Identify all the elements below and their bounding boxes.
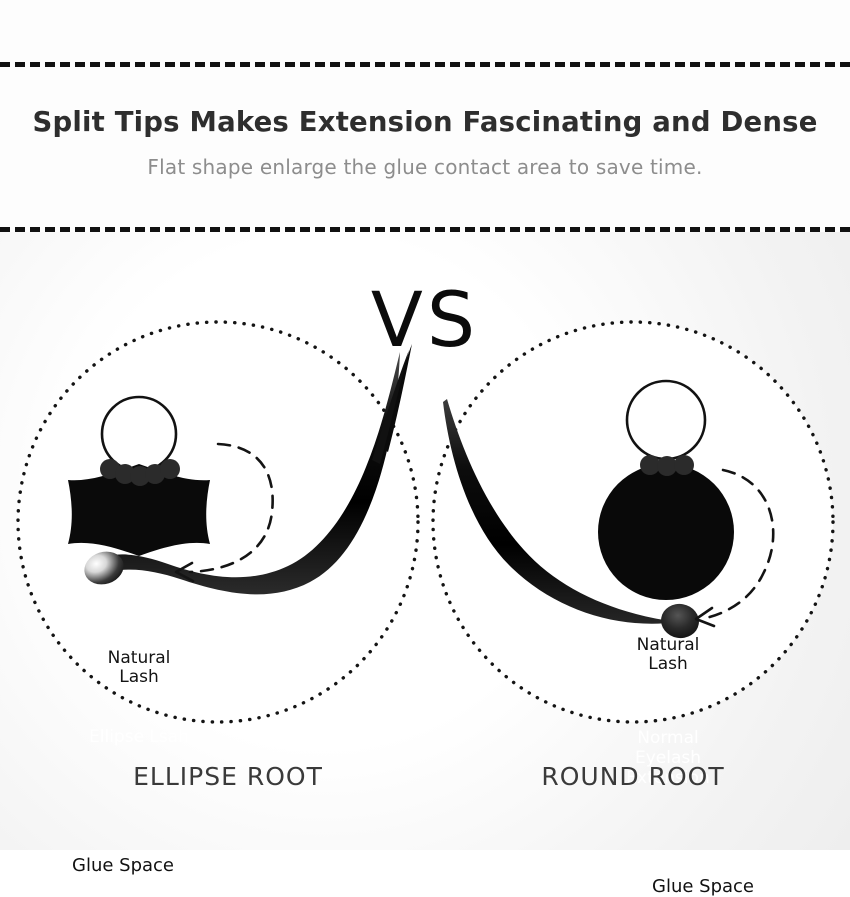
natural-lash-label-right-line1: Natural	[630, 636, 706, 655]
glue-dot-icon	[160, 459, 180, 479]
natural-lash-label-left-line1: Natural	[101, 649, 177, 668]
header-divider-top	[0, 62, 850, 67]
page-subtitle: Flat shape enlarge the glue contact area…	[0, 155, 850, 179]
natural-lash-label-right-line2: Lash	[630, 655, 706, 674]
natural-lash-label-left-line2: Lash	[101, 668, 177, 687]
glue-dot-row-right	[640, 455, 694, 476]
infographic-root: Split Tips Makes Extension Fascinating a…	[0, 0, 850, 850]
natural-lash-circle-right	[627, 381, 705, 459]
caption-round-root: ROUND ROOT	[473, 762, 793, 791]
natural-lash-label-right: Natural Lash	[630, 636, 706, 674]
round-extension-label-line1: Normal	[608, 728, 728, 748]
glue-space-label-right: Glue Space	[652, 876, 754, 897]
natural-lash-label-left: Natural Lash	[101, 649, 177, 687]
glue-dot-icon	[657, 456, 677, 476]
header-band: Split Tips Makes Extension Fascinating a…	[0, 0, 850, 232]
ellipse-extension-label: Ellipse Lsah	[66, 727, 212, 747]
caption-ellipse-root: ELLIPSE ROOT	[68, 762, 388, 791]
page-title: Split Tips Makes Extension Fascinating a…	[0, 106, 850, 138]
round-extension-shape	[598, 464, 734, 600]
glue-space-label-left: Glue Space	[72, 855, 174, 876]
glue-dot-icon	[640, 455, 660, 475]
glue-dot-icon	[674, 455, 694, 475]
